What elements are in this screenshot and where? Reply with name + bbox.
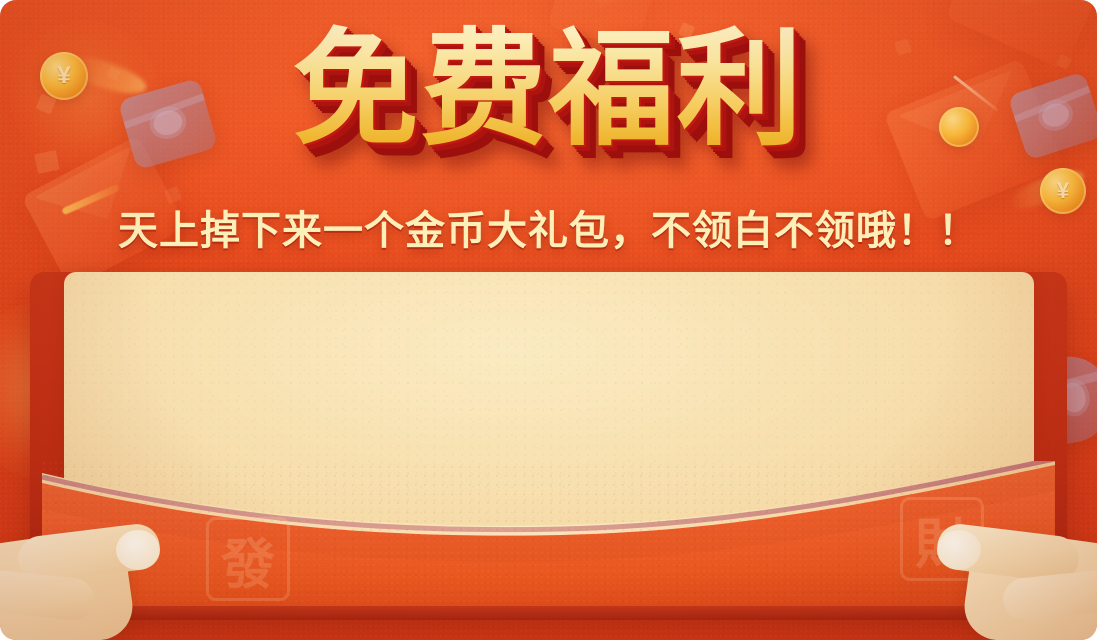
coin-on-envelope <box>939 107 979 147</box>
packet-ghost-top-right <box>1007 71 1097 160</box>
envelope-ghost-left-accent <box>61 184 120 216</box>
envelope-ghost-left <box>21 135 186 289</box>
confetti-square <box>36 94 57 115</box>
page-subtitle: 天上掉下来一个金币大礼包，不领白不领哦！！ <box>0 198 1097 256</box>
envelope-bottom-rim <box>42 606 1055 620</box>
coin-currency-glyph: ¥ <box>1057 178 1069 204</box>
red-envelope[interactable]: 發 財 <box>30 276 1067 620</box>
coin-trail-top-left <box>60 49 150 100</box>
coin-top-right: ¥ <box>1040 168 1086 214</box>
coin-currency-glyph: ¥ <box>57 62 70 90</box>
confetti-square <box>678 22 695 39</box>
envelope-ghost-top-right <box>884 59 1065 222</box>
envelope-ghost-top-right-string <box>953 75 999 112</box>
title-block: 免费福利 <box>0 22 1097 158</box>
confetti-square <box>894 38 912 56</box>
envelope-pocket-shape <box>42 461 1055 620</box>
coin-top-left: ¥ <box>40 52 88 100</box>
packet-ghost-top-left <box>118 78 219 170</box>
coin-trail-top-right <box>1004 164 1087 216</box>
envelope-ghost-top-edge <box>945 0 1097 70</box>
envelope-front-pocket: 發 財 <box>42 461 1055 620</box>
confetti-square <box>164 186 182 204</box>
confetti-square <box>106 66 121 81</box>
page-title: 免费福利 <box>293 22 805 158</box>
confetti-square <box>1056 54 1072 70</box>
glow-orb-top-left <box>10 20 160 170</box>
envelope-ghost-top-center <box>548 0 657 51</box>
free-benefits-promo-banner: ¥ ¥ 免费福利 天上掉下来一个金币大礼包，不领白不领哦！！ <box>0 0 1097 640</box>
confetti-square <box>34 150 60 174</box>
